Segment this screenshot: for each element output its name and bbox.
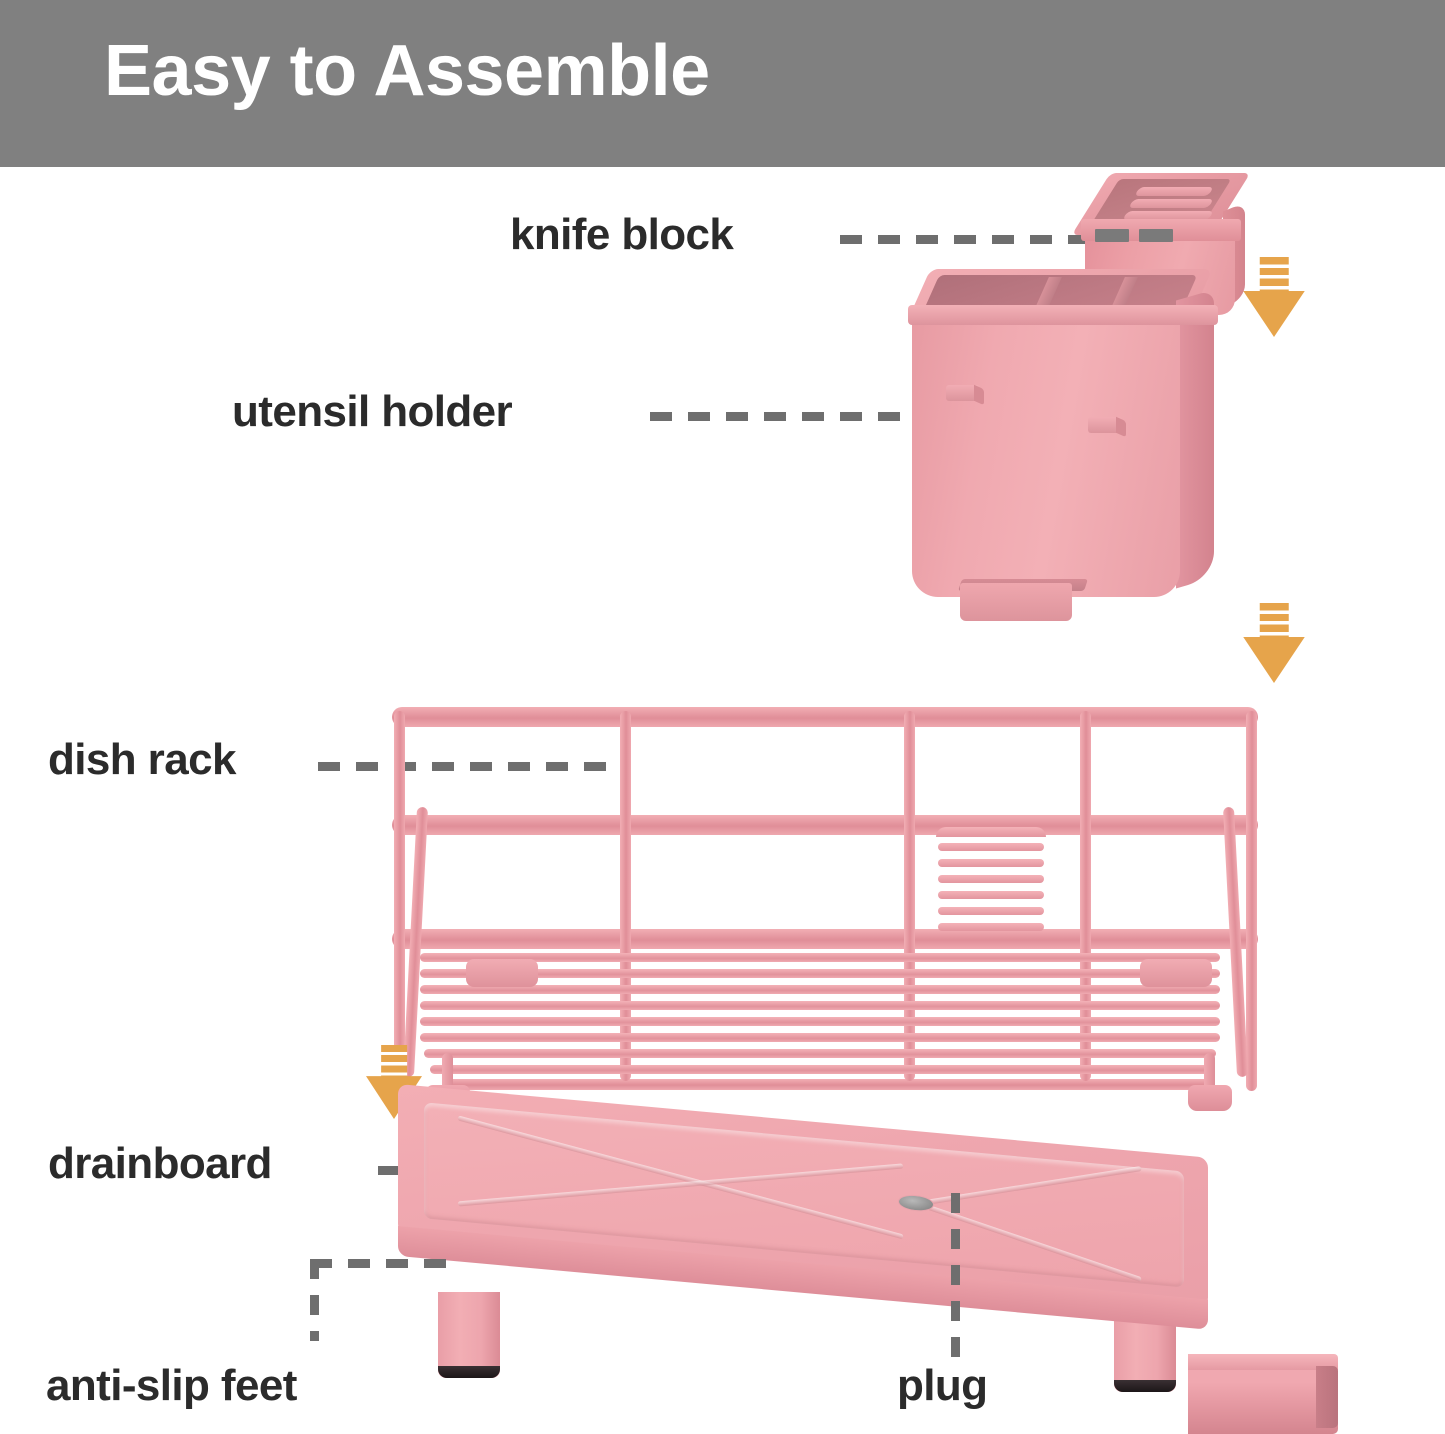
leader-line-anti-slip-feet-vertical bbox=[310, 1259, 319, 1341]
drainboard-tray bbox=[398, 1084, 1234, 1350]
anti-slip-foot-right bbox=[1114, 1380, 1176, 1392]
dish-rack-tine bbox=[420, 953, 1220, 962]
arrow-head bbox=[1243, 637, 1305, 683]
dish-rack-tine bbox=[424, 1049, 1216, 1058]
part-drainboard bbox=[398, 1092, 1358, 1402]
dish-rack-tine bbox=[430, 1065, 1210, 1074]
knife-block-slot-1 bbox=[1134, 187, 1214, 196]
dish-rack-cup-loop bbox=[936, 827, 1046, 837]
dish-rack-post-left-outer bbox=[394, 711, 405, 1091]
utensil-holder-right-face bbox=[1176, 290, 1214, 589]
dish-rack-cup-loop bbox=[938, 923, 1044, 931]
dish-rack-bottom-rail bbox=[444, 1079, 1210, 1090]
anti-slip-foot-left bbox=[438, 1366, 500, 1378]
callout-label-knife-block: knife block bbox=[510, 213, 733, 257]
arrow-shaft bbox=[1260, 603, 1289, 638]
assembly-diagram: knife block utensil holder bbox=[0, 167, 1445, 1432]
arrow-head bbox=[1243, 291, 1305, 337]
knife-block-slot-2 bbox=[1128, 199, 1214, 208]
utensil-holder-rim bbox=[908, 305, 1218, 325]
utensil-holder-front-face bbox=[912, 311, 1180, 597]
dish-rack-lower-rail bbox=[392, 929, 1258, 949]
dish-rack-clip-left bbox=[466, 959, 538, 987]
utensil-holder-hook-right bbox=[1088, 417, 1122, 433]
dish-rack-cup-loop bbox=[938, 891, 1044, 899]
leader-line-knife-block bbox=[840, 235, 1112, 244]
dish-rack-tine bbox=[420, 1017, 1220, 1026]
arrow-shaft bbox=[381, 1045, 407, 1078]
utensil-holder-drip-spout bbox=[960, 583, 1072, 621]
leader-line-plug bbox=[951, 1193, 960, 1361]
callout-label-dish-rack: dish rack bbox=[48, 738, 236, 782]
drainboard-spout-end bbox=[1316, 1366, 1338, 1428]
dish-rack-mid-rail bbox=[392, 815, 1258, 835]
knife-block-tab-right bbox=[1139, 229, 1173, 242]
assembly-arrow-down-1 bbox=[1243, 257, 1305, 337]
part-utensil-holder bbox=[890, 267, 1230, 647]
dish-rack-tine bbox=[420, 1001, 1220, 1010]
assembly-arrow-down-2 bbox=[1243, 603, 1305, 683]
dish-rack-cup-loop bbox=[938, 859, 1044, 867]
dish-rack-cup-loop bbox=[938, 907, 1044, 915]
dish-rack-cup-loop bbox=[938, 875, 1044, 883]
arrow-shaft bbox=[1260, 257, 1289, 292]
callout-label-drainboard: drainboard bbox=[48, 1142, 272, 1186]
callout-label-anti-slip-feet: anti-slip feet bbox=[46, 1364, 297, 1408]
dish-rack-tine bbox=[420, 969, 1220, 978]
knife-block-tab-left bbox=[1095, 229, 1129, 242]
dish-rack-clip-right bbox=[1140, 959, 1212, 987]
dish-rack-post-right-outer bbox=[1246, 711, 1257, 1091]
page-title: Easy to Assemble bbox=[104, 35, 710, 107]
dish-rack-tine bbox=[420, 1033, 1220, 1042]
dish-rack-top-rail bbox=[392, 707, 1258, 727]
dish-rack-tine bbox=[420, 985, 1220, 994]
leader-line-anti-slip-feet bbox=[310, 1259, 458, 1268]
callout-label-plug: plug bbox=[897, 1364, 987, 1408]
header-bar: Easy to Assemble bbox=[0, 0, 1445, 167]
dish-rack-cup-loop bbox=[938, 843, 1044, 851]
utensil-holder-hook-left bbox=[946, 385, 980, 401]
callout-label-utensil-holder: utensil holder bbox=[232, 390, 512, 434]
